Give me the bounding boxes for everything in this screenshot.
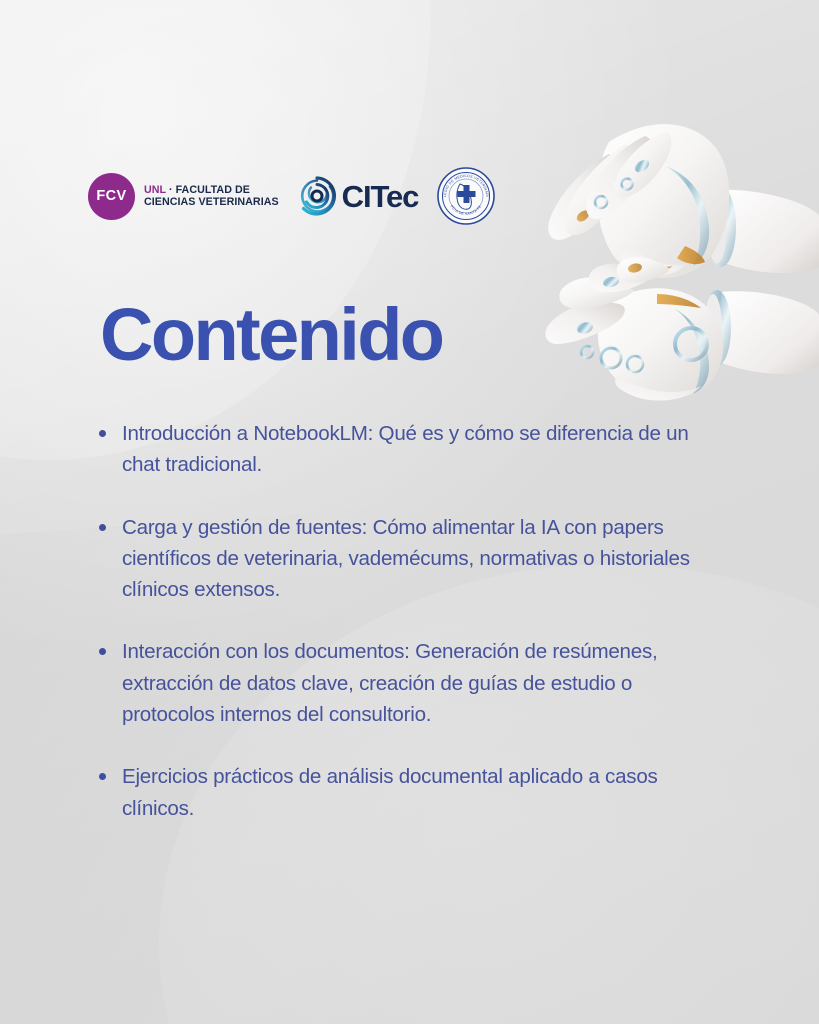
fcv-logo-line1: UNL · FACULTAD DE — [144, 184, 279, 196]
robotic-hand-upper — [548, 124, 819, 278]
fcv-faculty-label: · FACULTAD DE — [166, 184, 250, 196]
list-item-text: Ejercicios prácticos de análisis documen… — [122, 765, 658, 819]
fcv-logo: FCV UNL · FACULTAD DE CIENCIAS VETERINAR… — [88, 173, 279, 220]
slide-canvas: FCV UNL · FACULTAD DE CIENCIAS VETERINAR… — [0, 0, 819, 1024]
bullet-dot-icon — [99, 648, 106, 655]
list-item: Ejercicios prácticos de análisis documen… — [96, 761, 706, 824]
list-item-text: Introducción a NotebookLM: Qué es y cómo… — [122, 422, 689, 476]
list-item: Introducción a NotebookLM: Qué es y cómo… — [96, 418, 706, 481]
bullet-dot-icon — [99, 524, 106, 531]
fcv-unl-label: UNL — [144, 184, 166, 196]
fcv-logo-text: UNL · FACULTAD DE CIENCIAS VETERINARIAS — [144, 184, 279, 209]
citec-wordmark: CITec — [342, 181, 419, 212]
robotic-hands-image — [459, 70, 819, 430]
fcv-logo-line2: CIENCIAS VETERINARIAS — [144, 196, 279, 208]
colegio-medicos-veterinarios-seal-icon: COLEGIO DE MEDICOS VETERINARIOS PCIA DE … — [436, 166, 496, 226]
citec-logo: CITec — [297, 176, 419, 216]
bullet-dot-icon — [99, 430, 106, 437]
list-item: Interacción con los documentos: Generaci… — [96, 636, 706, 730]
list-item-text: Carga y gestión de fuentes: Cómo aliment… — [122, 516, 690, 602]
list-item-text: Interacción con los documentos: Generaci… — [122, 640, 657, 726]
content-bullet-list: Introducción a NotebookLM: Qué es y cómo… — [96, 418, 706, 824]
background-arc-top-left — [0, 0, 430, 460]
robotic-hand-lower — [545, 257, 819, 400]
citec-concentric-rings-icon — [297, 176, 337, 216]
bullet-dot-icon — [99, 773, 106, 780]
list-item: Carga y gestión de fuentes: Cómo aliment… — [96, 512, 706, 606]
fcv-circle-logo: FCV — [88, 173, 135, 220]
page-title: Contenido — [100, 298, 442, 372]
logo-bar: FCV UNL · FACULTAD DE CIENCIAS VETERINAR… — [88, 166, 496, 226]
